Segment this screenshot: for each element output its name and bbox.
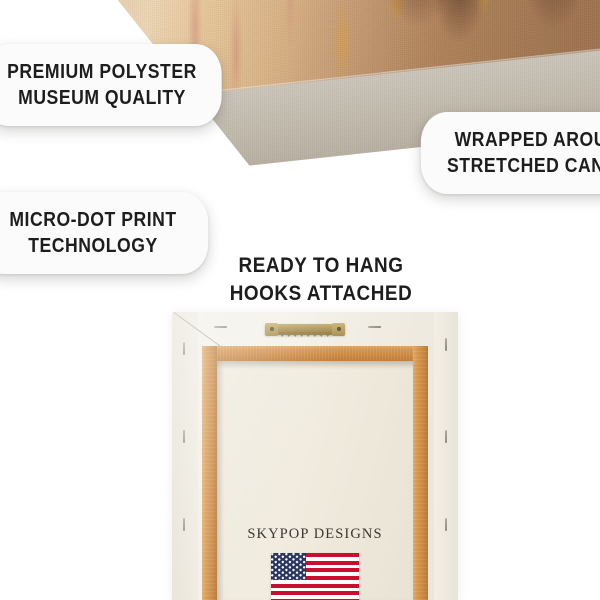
staple bbox=[183, 518, 185, 531]
hanger-tooth bbox=[279, 332, 286, 337]
hanger-tooth bbox=[312, 332, 319, 337]
stretcher-inner-shadow-left bbox=[217, 361, 224, 600]
hanger-tooth bbox=[318, 332, 325, 337]
wood-grain-texture bbox=[413, 346, 428, 600]
staple bbox=[445, 338, 447, 351]
staple bbox=[214, 326, 227, 328]
brand-label: SKYPOP DESIGNS bbox=[202, 526, 428, 543]
feature-badge-micro-dot-print: MICRO-DOT PRINT TECHNOLOGY bbox=[0, 192, 208, 274]
staple bbox=[445, 518, 447, 531]
ready-to-hang-caption: READY TO HANG HOOKS ATTACHED bbox=[209, 252, 434, 307]
canvas-back-photo: SKYPOP DESIGNS bbox=[172, 312, 458, 600]
staple bbox=[183, 342, 185, 355]
stretcher-inner-shadow-top bbox=[217, 361, 413, 369]
feature-badge-premium-polyster: PREMIUM POLYSTER MUSEUM QUALITY bbox=[0, 44, 222, 126]
staple bbox=[368, 326, 381, 328]
ready-to-hang-line-2: HOOKS ATTACHED bbox=[209, 280, 434, 308]
hanger-tooth bbox=[305, 332, 312, 337]
stretcher-bar-right bbox=[413, 346, 428, 600]
flag-stars bbox=[271, 553, 306, 580]
feature-badge-line-1: PREMIUM POLYSTER bbox=[7, 59, 197, 85]
united-states-flag-icon bbox=[271, 553, 359, 600]
hanger-teeth bbox=[279, 332, 331, 337]
sawtooth-hanger bbox=[265, 322, 345, 337]
stretcher-bar-left bbox=[202, 346, 217, 600]
hanger-tooth bbox=[286, 332, 293, 337]
back-left-edge bbox=[172, 312, 198, 600]
back-right-edge bbox=[434, 312, 458, 600]
stretcher-bar-top bbox=[202, 346, 428, 361]
wooden-stretcher-frame: SKYPOP DESIGNS bbox=[202, 346, 428, 600]
feature-badge-line-2: STRETCHED CANVAS bbox=[447, 153, 600, 179]
wood-grain-texture bbox=[202, 346, 217, 600]
feature-badge-wrapped-around: WRAPPED AROUND STRETCHED CANVAS bbox=[421, 112, 600, 194]
staple bbox=[183, 430, 185, 443]
flag-canton bbox=[271, 553, 306, 580]
hanger-screw-hole-left bbox=[270, 327, 274, 331]
hanger-screw-hole-right bbox=[337, 327, 341, 331]
ready-to-hang-line-1: READY TO HANG bbox=[209, 252, 434, 280]
wood-grain-texture bbox=[202, 346, 428, 361]
hanger-tooth bbox=[292, 332, 299, 337]
hanger-tooth bbox=[325, 332, 332, 337]
staple bbox=[445, 430, 447, 443]
feature-badge-line-1: MICRO-DOT PRINT bbox=[9, 207, 176, 233]
feature-badge-line-2: TECHNOLOGY bbox=[28, 233, 157, 259]
hanger-tooth bbox=[299, 332, 306, 337]
product-feature-graphic: PREMIUM POLYSTER MUSEUM QUALITY WRAPPED … bbox=[0, 0, 600, 600]
feature-badge-line-1: WRAPPED AROUND bbox=[455, 127, 600, 153]
feature-badge-line-2: MUSEUM QUALITY bbox=[18, 85, 186, 111]
